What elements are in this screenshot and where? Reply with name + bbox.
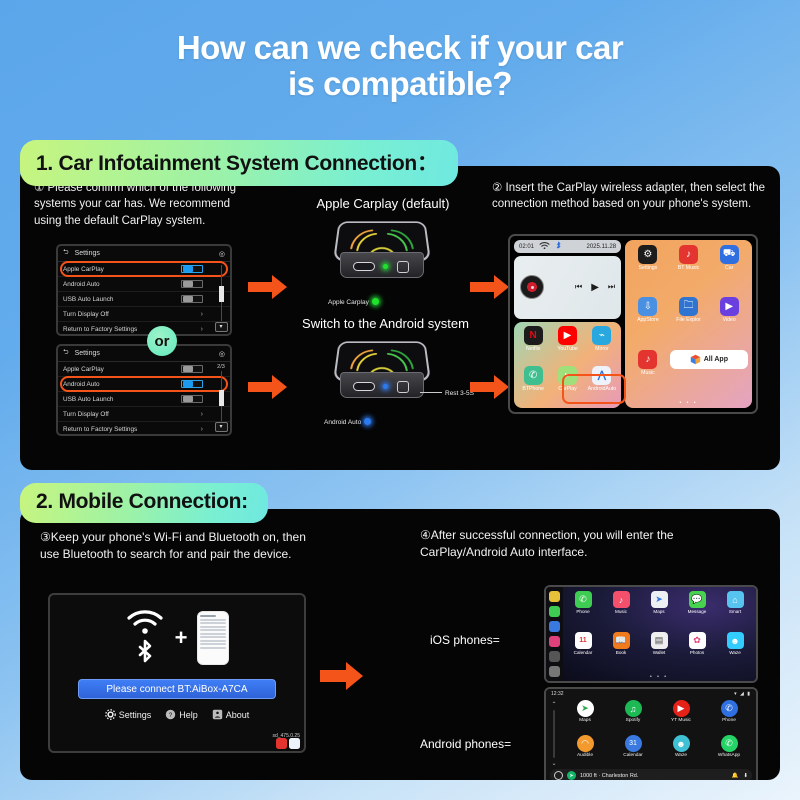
app-phone[interactable]: ✆Phone [706,700,752,733]
bluetooth-icon [555,241,562,253]
plus-icon: + [175,625,188,651]
app-all-app[interactable]: All App [670,350,748,399]
chevron-right-icon: › [201,426,203,433]
video-icon: ▶ [720,297,739,316]
section1-heading: 1. Car Infotainment System Connection： [20,140,458,186]
settings-title: Settings [75,250,100,257]
app-calendar[interactable]: 11Calendar [565,632,601,671]
status-led-blue [383,384,388,389]
settings-header: ⮌ Settings ◎ [58,346,230,362]
carplay-status-bar: 02:01 2025.11.28 [514,240,621,253]
section-car-infotainment: 1. Car Infotainment System Connection： ①… [20,140,780,470]
nav-destination-text: 1000 ft · Charleston Rd. [580,773,638,779]
audible-icon: ◠ [577,735,594,752]
page-title-line1: How can we check if your car [0,30,800,66]
app-netflix[interactable]: N Netflix [517,326,549,364]
settings-scrollbar[interactable]: ▾ [215,264,227,332]
androidauto-shortcut-icon[interactable] [289,738,300,749]
gear-icon [105,709,116,720]
rail-icon-6[interactable] [549,666,560,677]
app-photos[interactable]: ✿Photos [679,632,715,671]
back-icon[interactable]: ⮌ [63,248,69,259]
app-yt-music[interactable]: ▶YT Music [658,700,704,733]
arrow-right-icon [470,274,510,300]
device-carplay-caption: Apple Carplay (default) [298,196,468,211]
settings-row-usb-auto-launch[interactable]: USB Auto Launch [58,392,230,407]
settings-row-label: Android Auto [63,281,181,288]
toggle-android-auto[interactable] [181,380,203,388]
blue-led-dot-icon [364,418,371,425]
ios-carplay-screen[interactable]: ✆Phone ♪Music ➤Maps 💬Message ⌂Smart 11Ca… [544,585,758,683]
page-indicator: 2/3 [217,364,225,370]
back-icon[interactable]: ⮌ [63,348,69,359]
settings-row-usb-auto-launch[interactable]: USB Auto Launch [58,292,230,307]
app-music[interactable]: ♪ Music [629,350,667,399]
car-icon: ⛟ [720,245,739,264]
androidauto-icon: ⋀ [592,366,611,385]
connect-bt-button[interactable]: Please connect BT:AiBox-A7CA [78,679,276,699]
btphone-icon: ✆ [524,366,543,385]
app-music[interactable]: ♪Music [603,591,639,630]
info-icon [212,709,223,720]
app-whatsapp[interactable]: ✆WhatsApp [706,735,752,768]
yt-music-icon: ▶ [673,700,690,717]
wifi-bluetooth-group [125,609,165,667]
app-file-explorer[interactable]: 🗀 File Explor [670,297,708,346]
phone-icon: ✆ [575,591,592,608]
status-date: 2025.11.28 [587,244,617,250]
step4-text: ④After successful connection, you will e… [420,527,720,561]
folder-icon: 🗀 [679,297,698,316]
settings-row-apple-carplay[interactable]: Apple CarPlay [58,362,230,377]
settings-row-apple-carplay[interactable]: Apple CarPlay [58,262,230,277]
chevron-right-icon: › [201,411,203,418]
calendar-icon: 11 [575,632,592,649]
app-settings[interactable]: ⚙ Settings [629,245,667,294]
settings-row-return-to-factory[interactable]: Return to Factory Settings › [58,322,230,336]
toggle-apple-carplay[interactable] [181,365,203,373]
settings-row-label: Apple CarPlay [63,266,181,273]
bottom-app-shortcuts[interactable] [276,738,300,749]
android-led-label: Android Auto [324,418,371,426]
android-app-grid: ➤Maps ♫Spotify ▶YT Music ✆Phone ◠Audible… [562,700,752,768]
bt-pairing-screen[interactable]: + Please connect BT:AiBox-A7CA Settings … [48,593,306,753]
or-badge: or [147,326,177,356]
photos-icon: ✿ [689,632,706,649]
navigation-arrow-icon: ➤ [567,771,576,780]
youtube-icon: ▶ [558,326,577,345]
device-button-icon[interactable] [397,261,409,273]
section2-heading: 2. Mobile Connection: [20,483,268,523]
music-note-icon[interactable]: ◎ [219,250,225,258]
waze-icon: ☻ [727,632,744,649]
bluetooth-icon [135,639,155,667]
app-car[interactable]: ⛟ Car [710,245,748,294]
step3-text: ③Keep your phone's Wi-Fi and Bluetooth o… [40,529,315,563]
nav-right-icons[interactable]: 🔔 ⬇ [732,773,748,779]
next-track-button[interactable]: ⏭ [608,282,615,292]
green-led-dot-icon [372,298,379,305]
waze-icon: ☻ [673,735,690,752]
rail-icon-1[interactable] [549,591,560,602]
arrow-right-icon [320,661,364,691]
device-android-caption: Switch to the Android system [288,316,483,331]
status-time: 02:01 [519,244,534,250]
ios-sidebar[interactable] [546,587,563,681]
carplay-left-column: 02:01 2025.11.28 ⏮ ▶ ⏭ [514,240,621,408]
app-video[interactable]: ▶ Video [710,297,748,346]
settings-screen-carplay[interactable]: ⮌ Settings ◎ Apple CarPlay Android Auto … [56,244,232,336]
app-audible[interactable]: ◠Audible [562,735,608,768]
android-nav-bar[interactable]: ➤ 1000 ft · Charleston Rd. 🔔 ⬇ [550,769,752,780]
settings-row-turn-display-off[interactable]: Turn Display Off › [58,407,230,422]
carplay-media-player[interactable]: ⏮ ▶ ⏭ [514,256,621,319]
carplay-shortcut-icon[interactable] [276,738,287,749]
toggle-apple-carplay[interactable] [181,265,203,273]
settings-row-android-auto[interactable]: Android Auto [58,277,230,292]
scroll-thumb[interactable] [219,286,224,302]
settings-button[interactable]: Settings [105,709,152,720]
app-calendar[interactable]: 31Calendar [610,735,656,768]
reset-label: Rest 3-5S [420,390,474,397]
device-button-icon[interactable] [397,381,409,393]
calendar-icon: 31 [625,735,642,752]
android-time: 12:32 [551,691,564,697]
app-maps[interactable]: ➤Maps [641,591,677,630]
book-icon: 📖 [613,632,630,649]
player-controls[interactable]: ⏮ ▶ ⏭ [575,282,615,293]
android-auto-screen[interactable]: 12:32 ▾ ◢ ▮ ⌃ ⌄ ➤Maps ♫Spotify ▶YT Music… [544,687,758,780]
app-btphone[interactable]: ✆ BTPhone [517,366,549,404]
device-android [330,338,434,408]
app-mirror[interactable]: ⌁ Mirror [586,326,618,364]
rail-icon-2[interactable] [549,606,560,617]
scroll-up-icon[interactable]: ⌃ [551,701,556,708]
arrow-right-icon [248,274,288,300]
settings-row-label: Return to Factory Settings [63,326,201,333]
ios-app-grid: ✆Phone ♪Music ➤Maps 💬Message ⌂Smart 11Ca… [565,591,753,671]
phone-mockup [197,611,229,665]
app-waze[interactable]: ☻Waze [717,632,753,671]
about-button[interactable]: About [212,709,250,720]
section1-panel: ① Please confirm which of the following … [20,166,780,470]
assistant-button[interactable] [554,771,563,780]
play-button[interactable]: ▶ [591,282,599,293]
chevron-right-icon: › [201,311,203,318]
page-title-line2: is compatible? [0,66,800,102]
toggle-usb-auto-launch[interactable] [181,395,203,403]
device-body [340,252,424,278]
android-scroll-rail[interactable]: ⌃ ⌄ [548,701,560,767]
maps-icon: ➤ [577,700,594,717]
toggle-android-auto[interactable] [181,280,203,288]
wifi-icon [125,609,165,635]
carplay-right-app-grid: ⚙ Settings ♪ BT Music ⛟ Car ⇩ AppStore 🗀 [625,240,752,408]
all-app-icon: All App [670,350,748,369]
app-waze[interactable]: ☻Waze [658,735,704,768]
settings-title: Settings [75,350,100,357]
whatsapp-icon: ✆ [721,735,738,752]
reset-pinhole-icon [391,379,394,382]
settings-row-label: Android Auto [63,381,181,388]
carplay-icon: ▸ [558,366,577,385]
home-icon: ⌂ [727,591,744,608]
arrow-right-icon [470,374,510,400]
rail-icon-3[interactable] [549,621,560,632]
usb-port-icon [353,382,375,391]
arrow-right-icon [248,374,288,400]
mirror-icon: ⌁ [592,326,611,345]
usb-port-icon [353,262,375,271]
scroll-track[interactable] [553,710,555,758]
wallet-icon: ▤ [651,632,668,649]
gear-icon: ⚙ [638,245,657,264]
netflix-icon: N [524,326,543,345]
app-youtube[interactable]: ▶ YouTube [551,326,583,364]
scroll-thumb[interactable] [219,390,224,406]
device-carplay [330,218,434,288]
settings-row-turn-display-off[interactable]: Turn Display Off › [58,307,230,322]
app-androidauto[interactable]: ⋀ AndroidAuto [586,366,618,404]
status-led-green [383,264,388,269]
phone-icon: ✆ [721,700,738,717]
help-button[interactable]: ? Help [165,709,198,720]
step1-text: ① Please confirm which of the following … [34,180,240,229]
bt-screen-footer: Settings ? Help About [50,709,304,720]
reset-pinhole-icon [391,259,394,262]
section2-panel: ③Keep your phone's Wi-Fi and Bluetooth o… [20,509,780,780]
carplay-left-app-grid: N Netflix ▶ YouTube ⌁ Mirror ✆ BTPhone [514,322,621,408]
settings-row-label: Return to Factory Settings [63,426,201,433]
ios-page-dots: • • • [565,674,753,680]
scroll-down-icon[interactable]: ⌄ [551,760,556,767]
spotify-icon: ♫ [625,700,642,717]
settings-row-label: USB Auto Launch [63,296,181,303]
page-dots: • • • [625,400,752,406]
music-icon: ♪ [613,591,630,608]
rail-icon-4[interactable] [549,636,560,647]
carplay-led-label: Apple Carplay [328,298,379,306]
settings-header: ⮌ Settings ◎ [58,246,230,262]
settings-row-android-auto[interactable]: Android Auto [58,377,230,392]
settings-row-label: USB Auto Launch [63,396,181,403]
rail-icon-5[interactable] [549,651,560,662]
app-appstore[interactable]: ⇩ AppStore [629,297,667,346]
device-body [340,372,424,398]
previous-track-button[interactable]: ⏮ [575,282,582,292]
download-icon[interactable]: ⬇ [743,773,748,779]
app-bt-music[interactable]: ♪ BT Music [670,245,708,294]
album-art-icon [520,275,544,299]
svg-text:?: ? [169,712,173,719]
carplay-screen[interactable]: 02:01 2025.11.28 ⏮ ▶ ⏭ [508,234,758,414]
app-carplay[interactable]: ▸ CarPlay [551,366,583,404]
message-icon: 💬 [689,591,706,608]
ios-phones-label: iOS phones= [430,633,500,647]
scroll-down-button[interactable]: ▾ [215,422,228,432]
app-smart[interactable]: ⌂Smart [717,591,753,630]
section-mobile-connection: 2. Mobile Connection: ③Keep your phone's… [20,483,780,780]
settings-screen-androidauto[interactable]: ⮌ Settings ◎ Apple CarPlay Android Auto … [56,344,232,436]
app-book[interactable]: 📖Book [603,632,639,671]
settings-row-label: Turn Display Off [63,411,201,418]
android-signal-icons: ▾ ◢ ▮ [734,691,751,697]
app-maps[interactable]: ➤Maps [562,700,608,733]
music-note-icon[interactable]: ◎ [219,350,225,358]
settings-row-label: Apple CarPlay [63,366,181,373]
appstore-icon: ⇩ [638,297,657,316]
step2-text: ② Insert the CarPlay wireless adapter, t… [492,180,767,213]
wifi-icon [539,241,550,252]
scroll-track[interactable] [221,265,222,321]
question-icon: ? [165,709,176,720]
settings-row-label: Turn Display Off [63,311,201,318]
settings-scrollbar[interactable]: 2/3 ▾ [215,364,227,432]
scroll-track[interactable] [221,371,222,421]
music-icon: ♪ [638,350,657,369]
settings-row-return-to-factory[interactable]: Return to Factory Settings › [58,422,230,436]
toggle-usb-auto-launch[interactable] [181,295,203,303]
scroll-down-button[interactable]: ▾ [215,322,228,332]
chevron-right-icon: › [201,326,203,333]
page-title: How can we check if your car is compatib… [0,0,800,101]
app-phone[interactable]: ✆Phone [565,591,601,630]
android-phones-label: Android phones= [420,737,511,751]
bell-icon[interactable]: 🔔 [732,773,739,779]
cube-icon [690,354,701,365]
bt-music-icon: ♪ [679,245,698,264]
app-spotify[interactable]: ♫Spotify [610,700,656,733]
bt-pairing-icons: + [50,595,304,667]
app-message[interactable]: 💬Message [679,591,715,630]
maps-icon: ➤ [651,591,668,608]
android-status-bar: 12:32 ▾ ◢ ▮ [551,691,751,697]
app-wallet[interactable]: ▤Wallet [641,632,677,671]
